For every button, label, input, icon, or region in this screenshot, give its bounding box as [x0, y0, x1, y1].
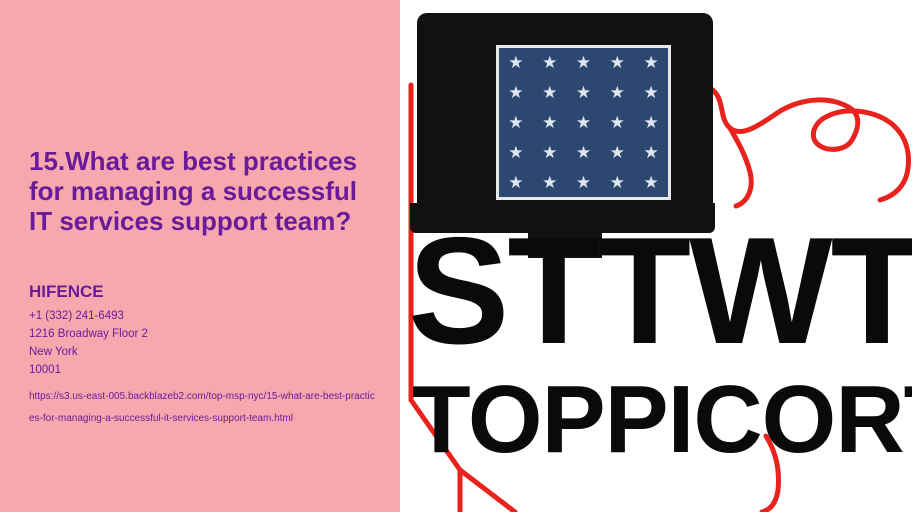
monitor-icon: ★★★★★★★★★★★★★★★★★★★★★★★★★ — [417, 13, 713, 221]
headline-text-secondary: TOPPICORT — [412, 372, 912, 468]
star-icon: ★ — [576, 54, 591, 71]
star-icon: ★ — [576, 174, 591, 191]
headline-text-primary: STTWT — [408, 215, 912, 367]
star-icon: ★ — [643, 174, 658, 191]
star-icon: ★ — [576, 144, 591, 161]
star-icon: ★ — [576, 84, 591, 101]
star-icon: ★ — [643, 144, 658, 161]
contact-block: +1 (332) 241-6493 1216 Broadway Floor 2 … — [29, 307, 379, 379]
slide-page: 15.What are best practices for managing … — [0, 0, 912, 512]
source-url[interactable]: https://s3.us-east-005.backblazeb2.com/t… — [29, 386, 376, 430]
monitor-screen: ★★★★★★★★★★★★★★★★★★★★★★★★★ — [496, 45, 671, 200]
star-icon: ★ — [508, 84, 523, 101]
star-icon: ★ — [610, 114, 625, 131]
star-icon: ★ — [576, 114, 591, 131]
star-icon: ★ — [508, 54, 523, 71]
contact-address: 1216 Broadway Floor 2 — [29, 325, 379, 343]
star-icon: ★ — [508, 144, 523, 161]
star-icon: ★ — [643, 84, 658, 101]
star-icon: ★ — [643, 114, 658, 131]
star-icon: ★ — [542, 144, 557, 161]
right-image-panel: ★★★★★★★★★★★★★★★★★★★★★★★★★ STTWT TOPPICOR… — [400, 0, 912, 512]
page-title: 15.What are best practices for managing … — [29, 146, 379, 236]
brand-name: HIFENCE — [29, 282, 104, 302]
contact-city: New York — [29, 343, 379, 361]
contact-phone: +1 (332) 241-6493 — [29, 307, 379, 325]
left-info-panel: 15.What are best practices for managing … — [0, 0, 400, 512]
star-icon: ★ — [610, 174, 625, 191]
star-icon: ★ — [542, 54, 557, 71]
star-icon: ★ — [542, 174, 557, 191]
star-icon: ★ — [542, 84, 557, 101]
stars-grid: ★★★★★★★★★★★★★★★★★★★★★★★★★ — [499, 48, 668, 197]
star-icon: ★ — [508, 114, 523, 131]
star-icon: ★ — [610, 144, 625, 161]
star-icon: ★ — [610, 84, 625, 101]
star-icon: ★ — [643, 54, 658, 71]
star-icon: ★ — [508, 174, 523, 191]
contact-zip: 10001 — [29, 361, 379, 379]
star-icon: ★ — [542, 114, 557, 131]
star-icon: ★ — [610, 54, 625, 71]
